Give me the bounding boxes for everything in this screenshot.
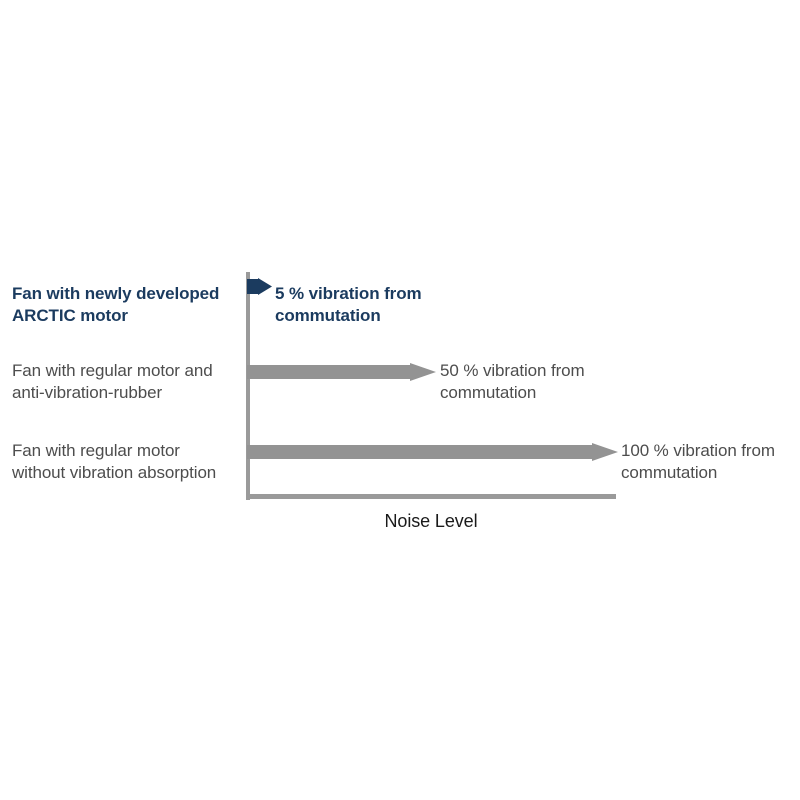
category-label-row-3-line-2: without vibration absorption — [12, 462, 242, 484]
bar-row-1 — [247, 278, 272, 295]
y-axis-line — [246, 272, 250, 500]
bar-row-2 — [247, 363, 436, 381]
value-label-row-1-line-1: 5 % vibration from — [275, 283, 422, 305]
category-label-row-2-line-2: anti-vibration-rubber — [12, 382, 242, 404]
value-label-row-3: 100 % vibration from commutation — [621, 440, 775, 484]
value-label-row-2-line-2: commutation — [440, 382, 585, 404]
value-label-row-2: 50 % vibration from commutation — [440, 360, 585, 404]
category-label-row-2-line-1: Fan with regular motor and — [12, 360, 242, 382]
value-label-row-3-line-1: 100 % vibration from — [621, 440, 775, 462]
x-axis-title: Noise Level — [246, 511, 616, 532]
category-label-row-3-line-1: Fan with regular motor — [12, 440, 242, 462]
category-label-row-1-line-1: Fan with newly developed — [12, 283, 242, 305]
bar-row-3-shape — [247, 443, 618, 461]
noise-level-bar-chart: Fan with newly developed ARCTIC motor 5 … — [0, 0, 800, 800]
x-axis-line — [246, 494, 616, 499]
bar-row-1-shape — [247, 278, 272, 295]
category-label-row-1: Fan with newly developed ARCTIC motor — [12, 283, 242, 327]
category-label-row-3: Fan with regular motor without vibration… — [12, 440, 242, 484]
category-label-row-2: Fan with regular motor and anti-vibratio… — [12, 360, 242, 404]
value-label-row-2-line-1: 50 % vibration from — [440, 360, 585, 382]
value-label-row-1: 5 % vibration from commutation — [275, 283, 422, 327]
value-label-row-3-line-2: commutation — [621, 462, 775, 484]
bar-row-2-shape — [247, 363, 436, 381]
value-label-row-1-line-2: commutation — [275, 305, 422, 327]
bar-row-3 — [247, 443, 618, 461]
category-label-row-1-line-2: ARCTIC motor — [12, 305, 242, 327]
